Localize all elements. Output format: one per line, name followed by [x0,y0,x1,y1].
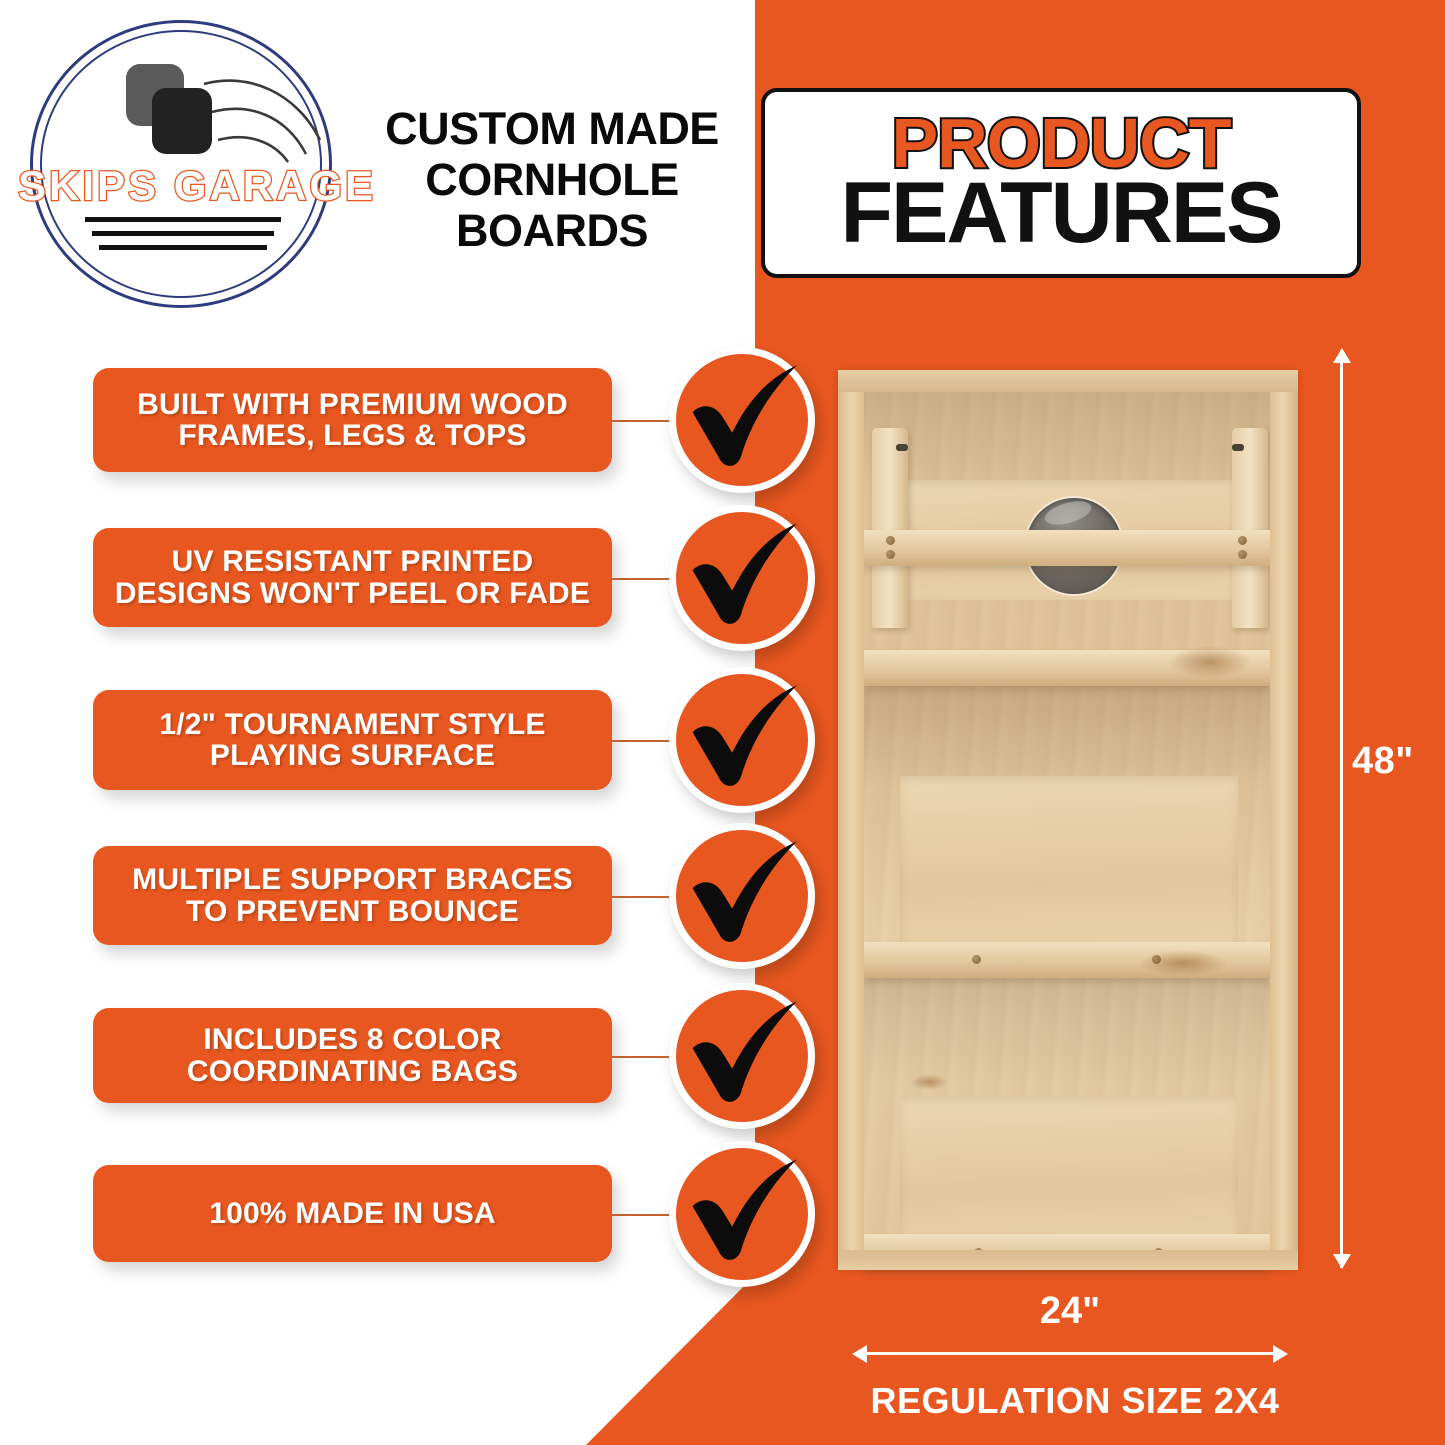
leg-bolt-left [896,444,908,451]
logo-underline-1 [85,217,281,222]
feature-label-made-in-usa: 100% MADE IN USA [93,1165,612,1262]
feature-row-uv-resistant: UV RESISTANT PRINTED DESIGNS WON'T PEEL … [0,528,830,674]
board-frame-bottom [838,1250,1298,1270]
motion-arcs-icon [198,54,328,164]
board-brace-1 [864,530,1270,566]
feature-connector-1 [612,420,674,422]
leg-bolt-right [1232,444,1244,451]
wood-knot [910,1074,948,1090]
board-inner-panel-bottom [900,1096,1238,1248]
height-arrow-bottom [1333,1254,1351,1269]
feature-label-premium-wood: BUILT WITH PREMIUM WOOD FRAMES, LEGS & T… [93,368,612,472]
height-dimension-label: 48" [1352,740,1414,783]
logo-underline-group [18,217,348,259]
feature-label-uv-resistant: UV RESISTANT PRINTED DESIGNS WON'T PEEL … [93,528,612,627]
check-icon [683,357,803,477]
check-icon [683,677,803,797]
feature-row-support-braces: MULTIPLE SUPPORT BRACES TO PREVENT BOUNC… [0,846,830,992]
board-inner-panel-middle [900,776,1238,952]
brace-screw [886,536,895,545]
feature-label-tournament-surface: 1/2" TOURNAMENT STYLE PLAYING SURFACE [93,690,612,790]
logo-underline-3 [99,245,267,250]
check-icon [683,993,803,1113]
check-badge-6 [669,1141,815,1287]
infographic-canvas: SKIPS GARAGE CUSTOM MADE CORNHOLE BOARDS… [0,0,1445,1445]
feature-connector-3 [612,740,674,742]
regulation-size-label: REGULATION SIZE 2X4 [840,1380,1310,1422]
width-dimension-label: 24" [860,1290,1280,1333]
height-dimension-line [1340,350,1343,1268]
wood-knot [1138,950,1228,976]
feature-row-premium-wood: BUILT WITH PREMIUM WOOD FRAMES, LEGS & T… [0,368,830,514]
feature-connector-4 [612,896,674,898]
title-line-2: CORNHOLE [352,155,752,206]
check-badge-3 [669,667,815,813]
width-arrow-right [1273,1345,1288,1363]
cornhole-board-photo [838,370,1298,1270]
board-frame-left [838,370,864,1270]
logo-wordmark: SKIPS GARAGE [18,162,348,210]
feature-connector-5 [612,1056,674,1058]
brace-screw [972,955,981,964]
board-frame-right [1270,370,1298,1270]
board-leg-right [1232,428,1268,628]
feature-connector-6 [612,1214,674,1216]
brace-screw [1238,550,1247,559]
product-features-banner: PRODUCT FEATURES [761,88,1361,278]
title-line-3: BOARDS [352,206,752,257]
feature-connector-2 [612,578,674,580]
feature-row-tournament-surface: 1/2" TOURNAMENT STYLE PLAYING SURFACE [0,690,830,836]
width-dimension-line [860,1352,1280,1355]
check-icon [683,833,803,953]
title-line-1: CUSTOM MADE [352,104,752,155]
wood-knot [1168,646,1252,678]
brace-screw [1238,536,1247,545]
feature-row-included-bags: INCLUDES 8 COLOR COORDINATING BAGS [0,1008,830,1154]
banner-word-features: FEATURES [840,173,1281,255]
page-title: CUSTOM MADE CORNHOLE BOARDS [352,104,752,257]
check-badge-1 [669,347,815,493]
check-icon [683,1151,803,1271]
board-leg-left [872,428,908,628]
height-arrow-top [1333,348,1351,363]
width-arrow-left [852,1345,867,1363]
check-badge-4 [669,823,815,969]
check-badge-2 [669,505,815,651]
feature-row-made-in-usa: 100% MADE IN USA [0,1165,830,1311]
feature-label-support-braces: MULTIPLE SUPPORT BRACES TO PREVENT BOUNC… [93,846,612,945]
feature-label-included-bags: INCLUDES 8 COLOR COORDINATING BAGS [93,1008,612,1103]
board-frame-top [838,370,1298,392]
brace-screw [886,550,895,559]
check-icon [683,515,803,635]
brand-logo: SKIPS GARAGE [18,12,348,302]
logo-underline-2 [92,231,274,236]
check-badge-5 [669,983,815,1129]
